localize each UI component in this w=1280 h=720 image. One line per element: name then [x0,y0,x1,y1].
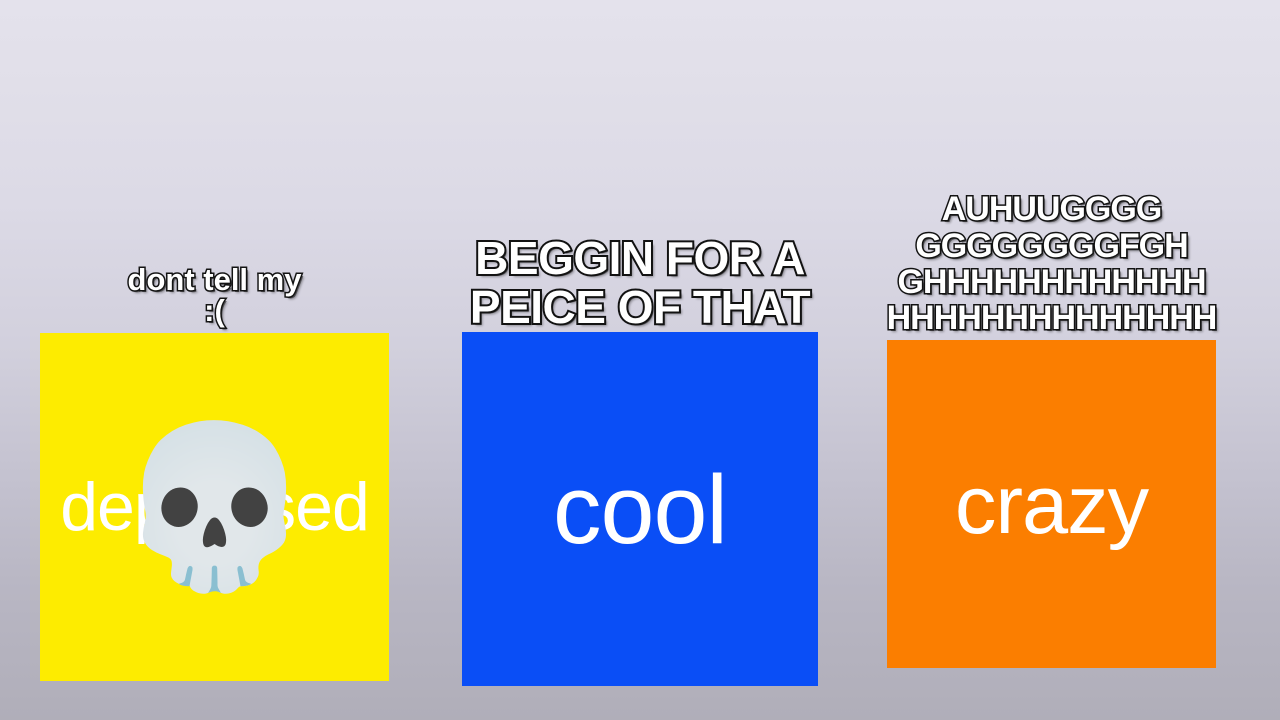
square-label-depressed: depressed [60,473,369,541]
panel-crazy: AUHUUGGGG GGGGGGGGFGH GHHHHHHHHHHHH HHHH… [887,340,1216,668]
square-label-cool: cool [553,461,727,558]
panel-depressed: dont tell my :( depressed 💀 [40,333,389,681]
square-label-crazy: crazy [955,463,1148,546]
panel-cool: BEGGIN FOR A PEICE OF THAT cool [462,332,818,686]
color-square-orange: crazy [887,340,1216,668]
caption-crazy: AUHUUGGGG GGGGGGGGFGH GHHHHHHHHHHHH HHHH… [732,191,1280,337]
meme-canvas: dont tell my :( depressed 💀 BEGGIN FOR A… [0,0,1280,720]
color-square-yellow: depressed [40,333,389,681]
color-square-blue: cool [462,332,818,686]
